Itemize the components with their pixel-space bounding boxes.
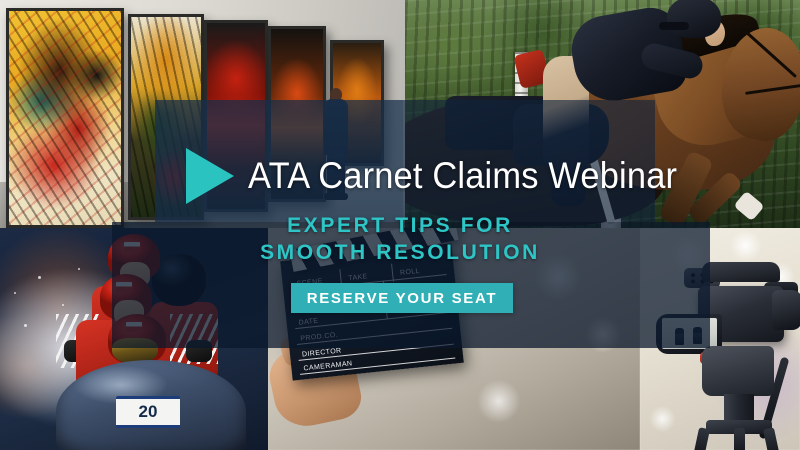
play-triangle-icon [186, 148, 234, 204]
subtitle: EXPERT TIPS FOR SMOOTH RESOLUTION [0, 212, 800, 266]
page-title: ATA Carnet Claims Webinar [248, 155, 677, 197]
reserve-your-seat-button[interactable]: RESERVE YOUR SEAT [291, 283, 513, 313]
banner-content: ATA Carnet Claims Webinar EXPERT TIPS FO… [0, 0, 800, 450]
webinar-promo-banner: 20 SCENE TAKE ROLL DATE [0, 0, 800, 450]
title-row: ATA Carnet Claims Webinar [186, 148, 709, 204]
subtitle-line-2: SMOOTH RESOLUTION [0, 239, 800, 266]
subtitle-line-1: EXPERT TIPS FOR [0, 212, 800, 239]
